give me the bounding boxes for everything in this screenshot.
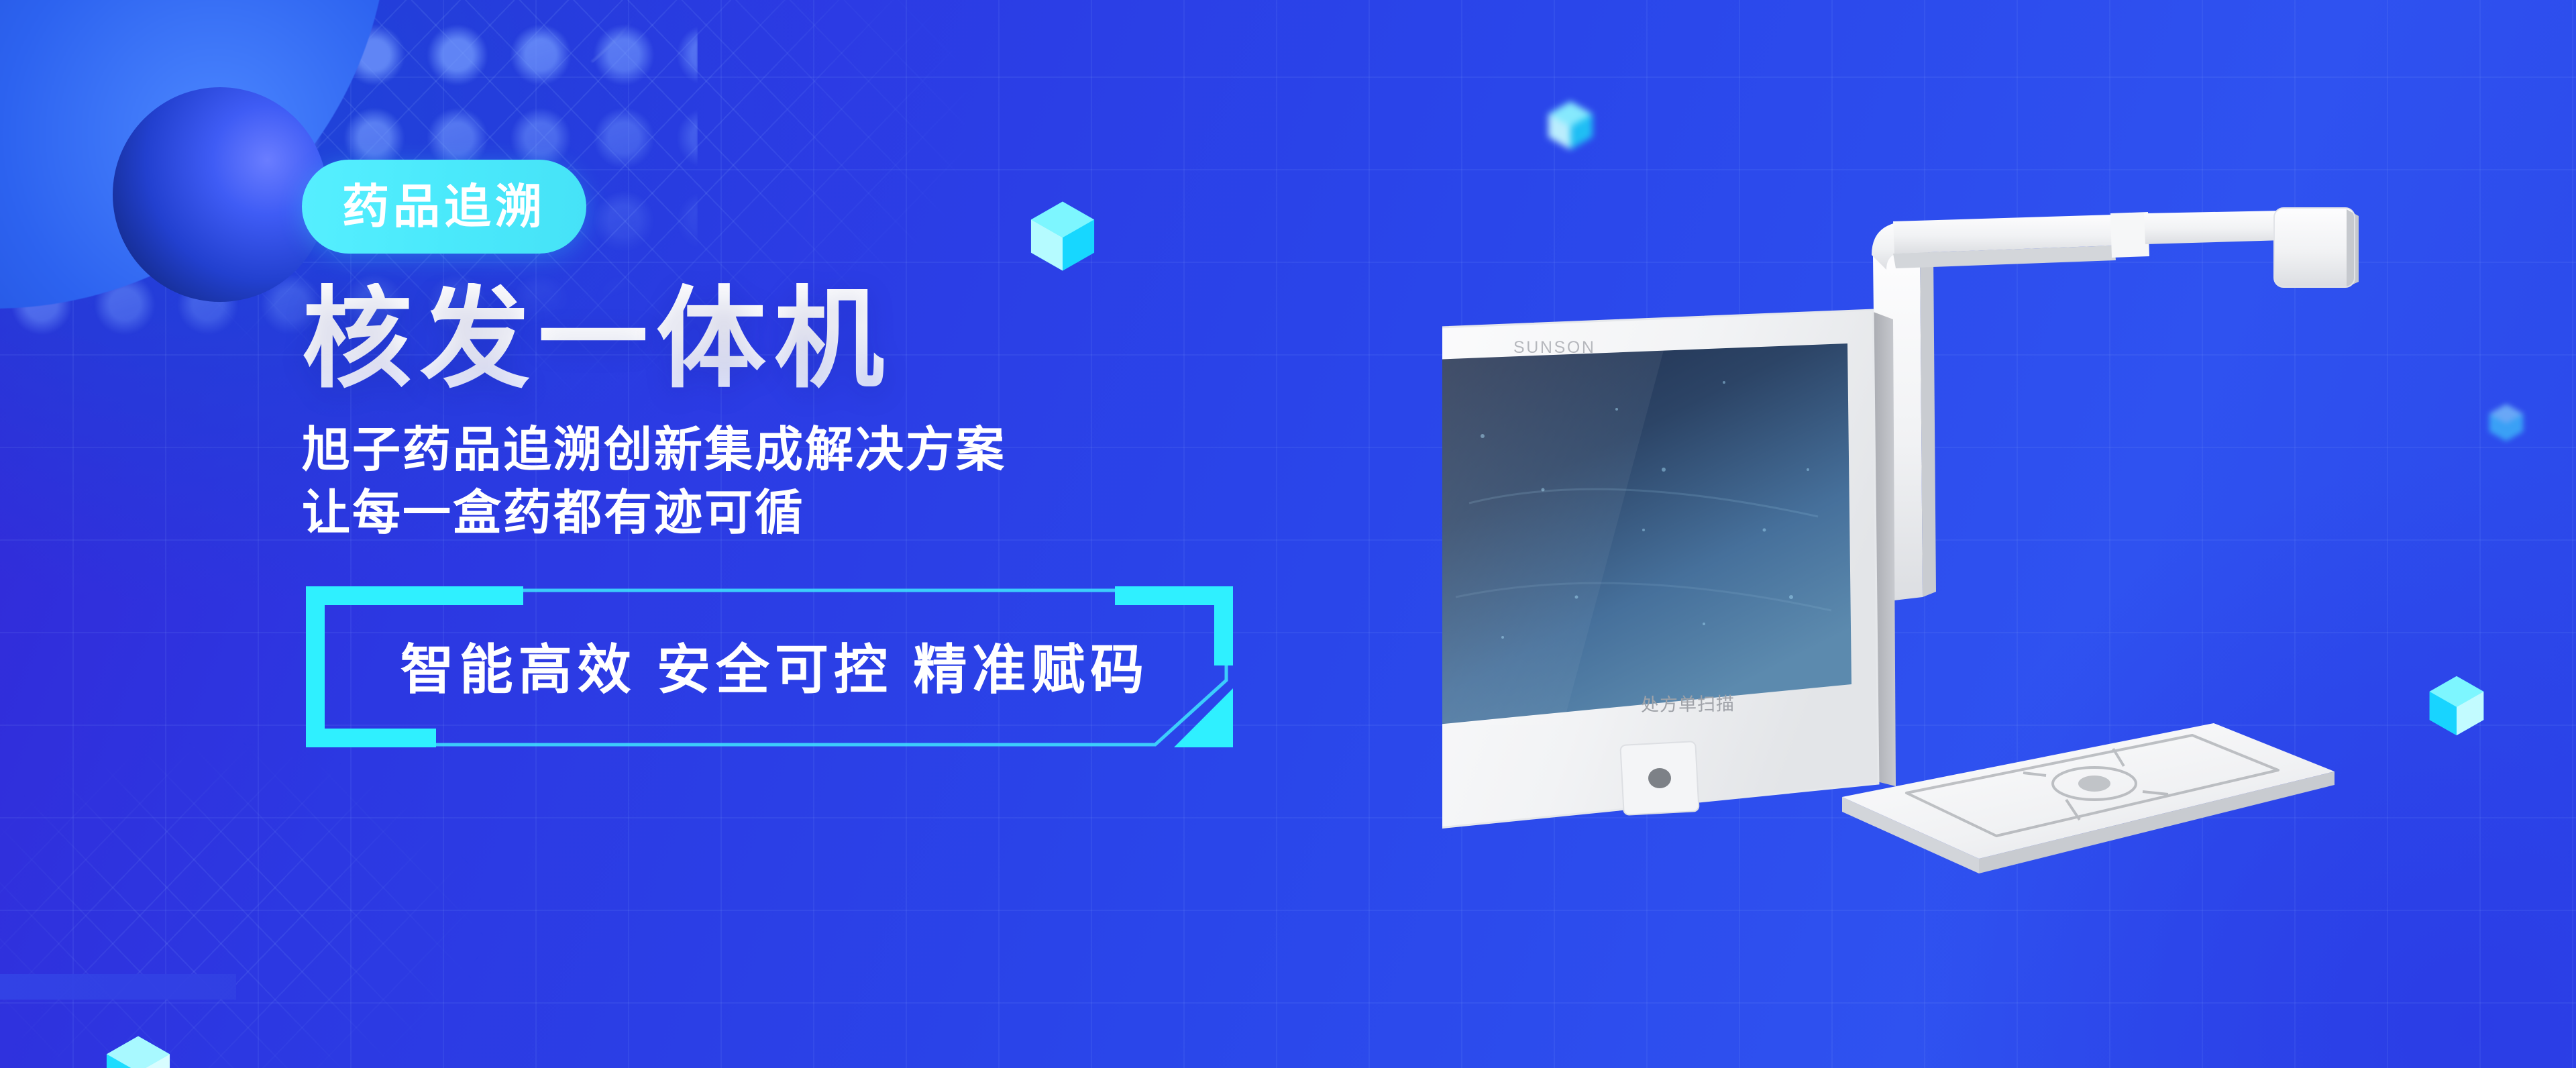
scan-platform-base xyxy=(1842,723,2334,873)
cube-icon xyxy=(101,1033,176,1068)
device-illustration xyxy=(1442,154,2381,932)
promotional-banner: 药品追溯 核发一体机 旭子药品追溯创新集成解决方案 让每一盒药都有迹可循 xyxy=(0,0,2576,1068)
category-badge-label: 药品追溯 xyxy=(342,183,546,230)
cube-icon xyxy=(2424,674,2489,738)
diamond-lattice-pattern-lower xyxy=(0,731,577,1068)
subtitle-line-2: 让每一盒药都有迹可循 xyxy=(302,482,1348,545)
accent-bar-decoration xyxy=(0,974,236,1000)
banner-content: 药品追溯 核发一体机 旭子药品追溯创新集成解决方案 让每一盒药都有迹可循 xyxy=(302,160,1348,751)
barcode-scanner-window xyxy=(1620,741,1699,815)
tagline-label: 智能高效 安全可控 精准赋码 xyxy=(302,627,1237,704)
small-sphere-decoration xyxy=(113,87,327,302)
device-brand-label: SUNSON xyxy=(1513,338,1596,358)
subtitle-line-1: 旭子药品追溯创新集成解决方案 xyxy=(302,419,1348,482)
tagline-box: 智能高效 安全可控 精准赋码 xyxy=(302,580,1237,751)
display-panel xyxy=(1442,310,1896,831)
overhead-camera-arm xyxy=(1872,208,2359,602)
cube-icon xyxy=(2486,403,2526,443)
cube-icon xyxy=(1544,99,1597,152)
device-scan-label: 处方单扫描 xyxy=(1641,689,1735,716)
subtitle-block: 旭子药品追溯创新集成解决方案 让每一盒药都有迹可循 xyxy=(302,419,1348,545)
page-title: 核发一体机 xyxy=(302,283,1348,395)
category-badge: 药品追溯 xyxy=(302,160,586,254)
